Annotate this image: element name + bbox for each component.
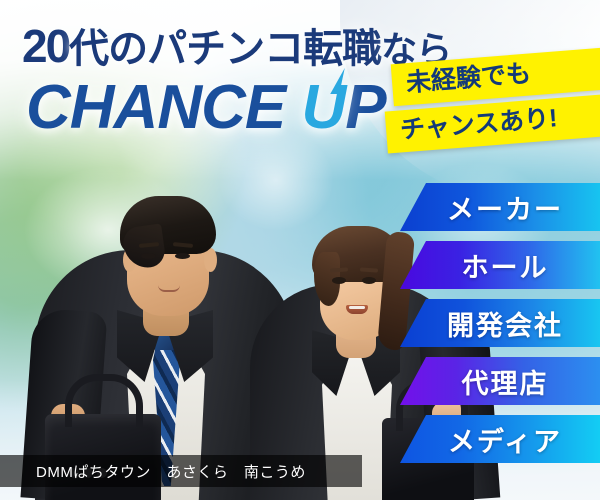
category-label: ホール: [452, 246, 549, 285]
category-button-media[interactable]: メディア: [400, 415, 600, 463]
logo-letter-p: P: [345, 73, 385, 142]
logo-word-chance: CHANCE: [26, 73, 285, 142]
category-button-maker[interactable]: メーカー: [400, 183, 600, 231]
category-label: メディア: [438, 420, 562, 459]
headline-number: 20: [22, 20, 69, 72]
promo-badge: 未経験でも チャンスあり!: [386, 56, 600, 145]
category-list: メーカー ホール 開発会社 代理店 メディア: [400, 183, 600, 473]
male-eye-left: [141, 253, 156, 259]
category-button-hall[interactable]: ホール: [400, 241, 600, 289]
headline-middle: 代のパチンコ転職: [69, 27, 381, 71]
female-eye-right: [362, 277, 376, 284]
logo-letter-u-arrow-icon: U: [301, 72, 345, 143]
category-label: 開発会社: [437, 304, 563, 343]
category-button-agency[interactable]: 代理店: [400, 357, 600, 405]
category-label: メーカー: [437, 188, 563, 227]
male-hair: [120, 196, 216, 254]
credit-caption-bar: DMMぱちタウン あさくら 南こうめ: [0, 455, 362, 487]
female-mouth: [346, 305, 368, 314]
brand-logo: CHANCE UP: [26, 72, 386, 143]
category-label: 代理店: [452, 362, 549, 401]
male-mouth: [158, 285, 180, 292]
male-eye-right: [175, 253, 190, 259]
advertising-banner[interactable]: 20代のパチンコ転職なら CHANCE UP 未経験でも チャンスあり! メーカ…: [0, 0, 600, 500]
credit-caption-text: DMMぱちタウン あさくら 南こうめ: [0, 461, 306, 482]
category-button-development-company[interactable]: 開発会社: [400, 299, 600, 347]
female-eye-left: [332, 277, 346, 284]
